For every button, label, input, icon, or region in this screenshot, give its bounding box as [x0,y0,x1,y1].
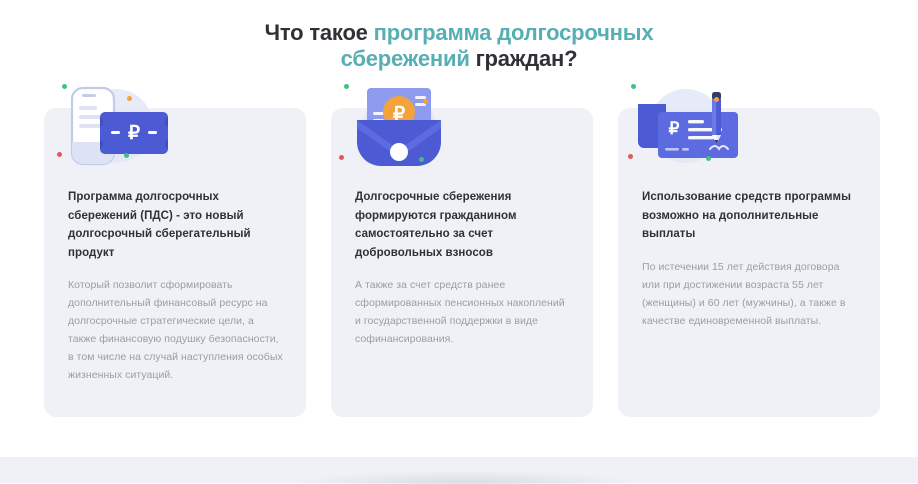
svg-text:₽: ₽ [128,123,140,144]
wallet-with-ruble-coin-icon: ₽ [341,76,471,176]
decor-dot-orange [423,99,428,104]
feature-card-1: ₽ Программа долгосрочных сбережений (ПДС… [44,108,306,417]
feature-card-1-body: Который позволит сформировать дополнител… [68,276,284,384]
decor-dot-green-2 [124,153,129,158]
decor-dot-red [628,154,633,159]
feature-card-2: ₽ Долгосрочные сбережения формируются гр… [331,108,593,417]
page-title-line1: Что такое программа долгосрочных [265,20,654,45]
feature-card-3-body: По истечении 15 лет действия договора ил… [642,258,858,330]
decor-dot-green-2 [419,157,424,162]
page-title-line2: сбережений граждан? [341,46,578,71]
feature-cards-row: ₽ Программа долгосрочных сбережений (ПДС… [44,108,880,417]
page-title-plain-2: граждан? [470,46,578,71]
phone-with-banknote-icon: ₽ [54,76,184,176]
feature-card-2-body: А также за счет средств ранее сформирова… [355,276,571,348]
feature-card-3: ₽ [618,108,880,417]
svg-text:₽: ₽ [393,104,405,125]
decor-dot-orange [127,96,132,101]
page-title-plain-1: Что такое [265,20,374,45]
feature-card-2-content: Долгосрочные сбережения формируются граж… [355,188,571,348]
feature-card-3-title: Использование средств программы возможно… [642,188,858,244]
bottom-section-shadow [290,470,640,484]
decor-dot-green [62,84,67,89]
decor-dot-red [57,152,62,157]
page-title: Что такое программа долгосрочных сбереже… [0,15,918,72]
feature-card-2-title: Долгосрочные сбережения формируются граж… [355,188,571,262]
svg-text:₽: ₽ [669,119,680,138]
decor-dot-green [631,84,636,89]
decor-dot-orange [714,97,719,102]
cheque-with-pen-icon: ₽ [628,76,758,176]
page-root: Что такое программа долгосрочных сбереже… [0,0,918,483]
feature-card-1-content: Программа долгосрочных сбережений (ПДС) … [68,188,284,384]
decor-dot-red [339,155,344,160]
decor-dot-green [344,84,349,89]
feature-card-1-title: Программа долгосрочных сбережений (ПДС) … [68,188,284,262]
decor-dot-green-2 [706,156,711,161]
page-title-accent-1: программа долгосрочных [374,20,654,45]
page-title-accent-2: сбережений [341,46,470,71]
feature-card-3-content: Использование средств программы возможно… [642,188,858,330]
